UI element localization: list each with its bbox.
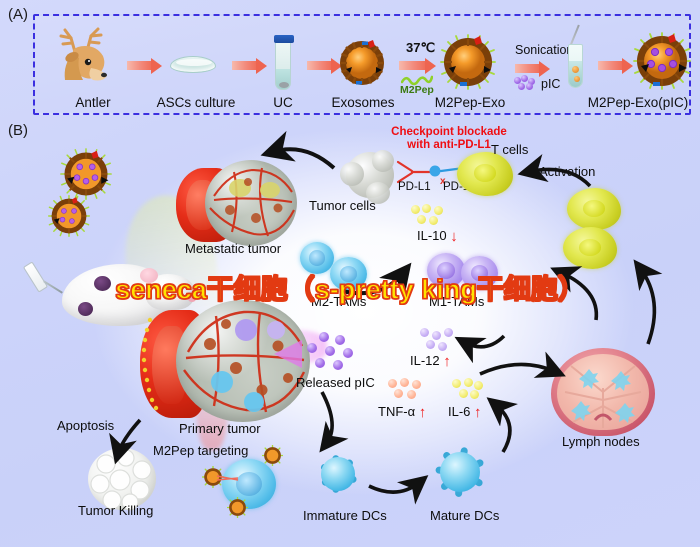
label-metastatic-tumor: Metastatic tumor [185,241,281,256]
label-tumor-cells: Tumor cells [309,198,376,213]
deer-head-icon [51,24,119,86]
checkpoint-line-1: Checkpoint blockade [391,126,507,138]
label-immature-dcs: Immature DCs [303,508,387,523]
m2pep-exosome-small-3 [227,497,248,518]
m1-tam-cell-1 [427,253,465,288]
tnf-alpha-dots [388,378,426,402]
process-arrow-5 [515,64,541,73]
tumor-cell-lobe-2 [372,150,394,172]
exosome-peptide-icon [440,34,496,90]
label-lymph-nodes: Lymph nodes [562,434,640,449]
m2-tam-cell-1 [300,242,334,274]
t-cell-activated-2 [563,227,617,269]
label-il-10: IL-10 ↓ [417,228,458,243]
mouse-ear [140,268,158,283]
step-label-exosomes: Exosomes [310,95,416,110]
mouse-spot-2 [78,302,93,316]
primary-vessel-dots [140,312,170,418]
step-label-m2pep-exo-pic: M2Pep-Exo(pIC) [573,95,700,110]
centrifuge-tube-icon [275,40,291,90]
il6-dots [452,378,488,402]
m2pep-binding-line [216,472,240,484]
label-activation: Activation [539,164,595,179]
il-12-name: IL-12 [410,353,440,368]
exosome-icon [338,39,386,87]
t-cell-activated-1 [567,188,621,230]
panel-a-tag: (A) [8,6,28,23]
sonication-label: Sonication [515,43,573,57]
step-label-m2pep-exo: M2Pep-Exo [414,95,526,110]
il-6-arrow: ↑ [474,407,482,418]
process-arrow-4 [399,61,427,70]
pic-dots-icon [514,75,538,89]
panel-b-tag: (B) [8,122,28,139]
tnf-alpha-name: TNF-α [378,404,415,419]
step-label-uc: UC [253,95,313,110]
label-apoptosis: Apoptosis [57,418,114,433]
process-arrow-2 [232,61,258,70]
m1-tam-cell-2 [461,256,498,290]
tumor-cell-lobe-1 [340,162,364,186]
checkpoint-line-2: with anti-PD-L1 [407,139,491,151]
step-label-antler: Antler [43,95,143,110]
il-10-arrow: ↓ [450,231,458,242]
syringe-icon [23,261,48,292]
immature-dc-icon [308,444,368,504]
label-m2-tams: M2-TAMs [311,294,366,309]
metastatic-tumor-vasculature [200,152,306,252]
exosome-particle-1 [60,148,112,200]
il10-dots [411,204,447,228]
label-tumor-killing: Tumor Killing [78,503,153,518]
il-10-name: IL-10 [417,228,447,243]
mature-dc-icon [424,436,496,508]
m2pep-exosome-small-2 [262,445,283,466]
process-arrow-1 [127,61,153,70]
label-il-12: IL-12 ↑ [410,353,451,368]
process-arrow-6 [598,61,624,70]
label-primary-tumor: Primary tumor [179,421,261,436]
il-12-arrow: ↑ [443,356,451,367]
label-mature-dcs: Mature DCs [430,508,499,523]
exosome-pic-icon [633,32,691,90]
label-tnf-alpha: TNF-α ↑ [378,404,426,419]
label-pd-l1: PD-L1 [398,181,431,193]
panel-a: 37℃ M2Pep [33,14,691,115]
label-m1-tams: M1-TAMs [429,294,484,309]
il-6-name: IL-6 [448,404,470,419]
label-released-pic: Released pIC [296,375,375,390]
label-il-6: IL-6 ↑ [448,404,482,419]
step-label-ascs-culture: ASCs culture [131,95,261,110]
process-arrow-3 [307,61,333,70]
primary-tumor-vasculature [170,294,318,428]
il12-dots [418,328,458,354]
label-t-cells: T cells [491,142,528,157]
released-pic-dots [305,332,361,378]
exosome-particle-2 [48,195,90,237]
pic-label: pIC [541,77,560,91]
petri-dish-icon [170,56,216,73]
tnf-alpha-arrow: ↑ [419,407,427,418]
lymph-node-structure [551,348,655,436]
label-m2pep-targeting: M2Pep targeting [153,443,248,458]
mouse-eye [166,284,175,292]
sonicator-tube-icon [568,44,583,88]
t-cell-engaged [457,152,513,196]
temperature-label: 37℃ [406,40,435,56]
m2-tam-cell-2 [330,257,367,291]
mouse-spot-1 [94,276,111,291]
figure-canvas: (A) (B) [0,0,700,547]
